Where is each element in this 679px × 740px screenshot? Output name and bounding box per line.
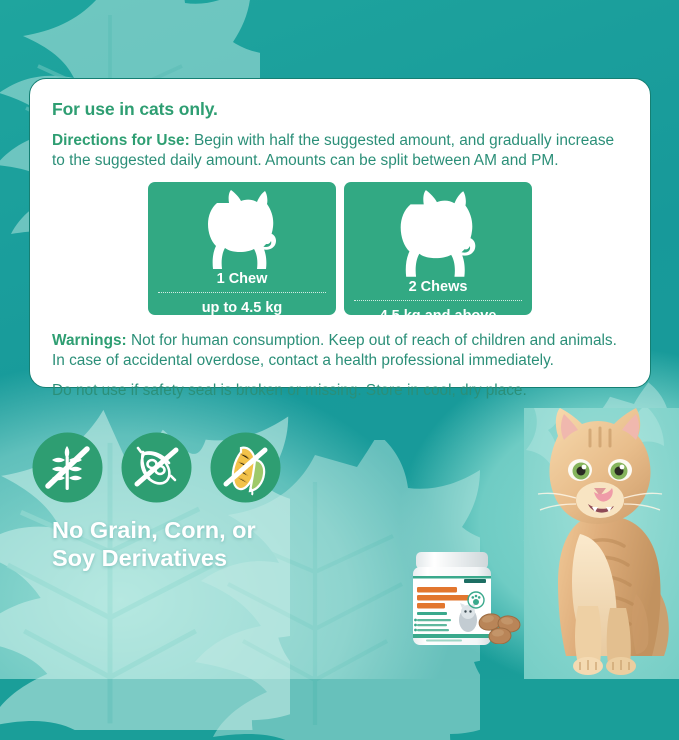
dosage-weight: 4.5 kg and above	[380, 301, 497, 332]
badge-row	[30, 430, 283, 505]
dosage-chart: 1 Chew up to 4.5 kg 2 Chews 4.5 kg and a…	[52, 182, 628, 315]
free-from-badges: No Grain, Corn, or Soy Derivatives	[30, 430, 283, 572]
dosage-count: 2 Chews	[409, 279, 468, 300]
cat-silhouette-icon	[203, 189, 281, 271]
no-grain-icon	[30, 430, 105, 505]
cat-photo	[524, 408, 679, 679]
warnings-paragraph: Warnings: Not for human consumption. Kee…	[52, 331, 628, 372]
free-from-caption-line1: No Grain, Corn, or	[52, 517, 283, 545]
directions-info-card: For use in cats only. Directions for Use…	[29, 78, 651, 388]
warnings-block: Warnings: Not for human consumption. Kee…	[52, 331, 628, 401]
dosage-weight: up to 4.5 kg	[202, 293, 283, 324]
chew-treats	[476, 608, 524, 644]
no-soy-icon	[119, 430, 194, 505]
no-corn-icon	[208, 430, 283, 505]
free-from-caption: No Grain, Corn, or Soy Derivatives	[52, 517, 283, 572]
warnings-second-line: Do not use if safety seal is broken or m…	[52, 381, 628, 401]
directions-label: Directions for Use:	[52, 132, 190, 149]
for-use-heading: For use in cats only.	[52, 99, 628, 120]
warnings-label: Warnings:	[52, 332, 127, 349]
free-from-caption-line2: Soy Derivatives	[52, 545, 283, 573]
directions-paragraph: Directions for Use: Begin with half the …	[52, 131, 628, 172]
dosage-count: 1 Chew	[217, 271, 268, 292]
cat-silhouette-icon	[395, 189, 481, 279]
dosage-card-1-chew: 1 Chew up to 4.5 kg	[148, 182, 336, 315]
warnings-text: Not for human consumption. Keep out of r…	[52, 332, 617, 369]
dosage-card-2-chews: 2 Chews 4.5 kg and above	[344, 182, 532, 315]
